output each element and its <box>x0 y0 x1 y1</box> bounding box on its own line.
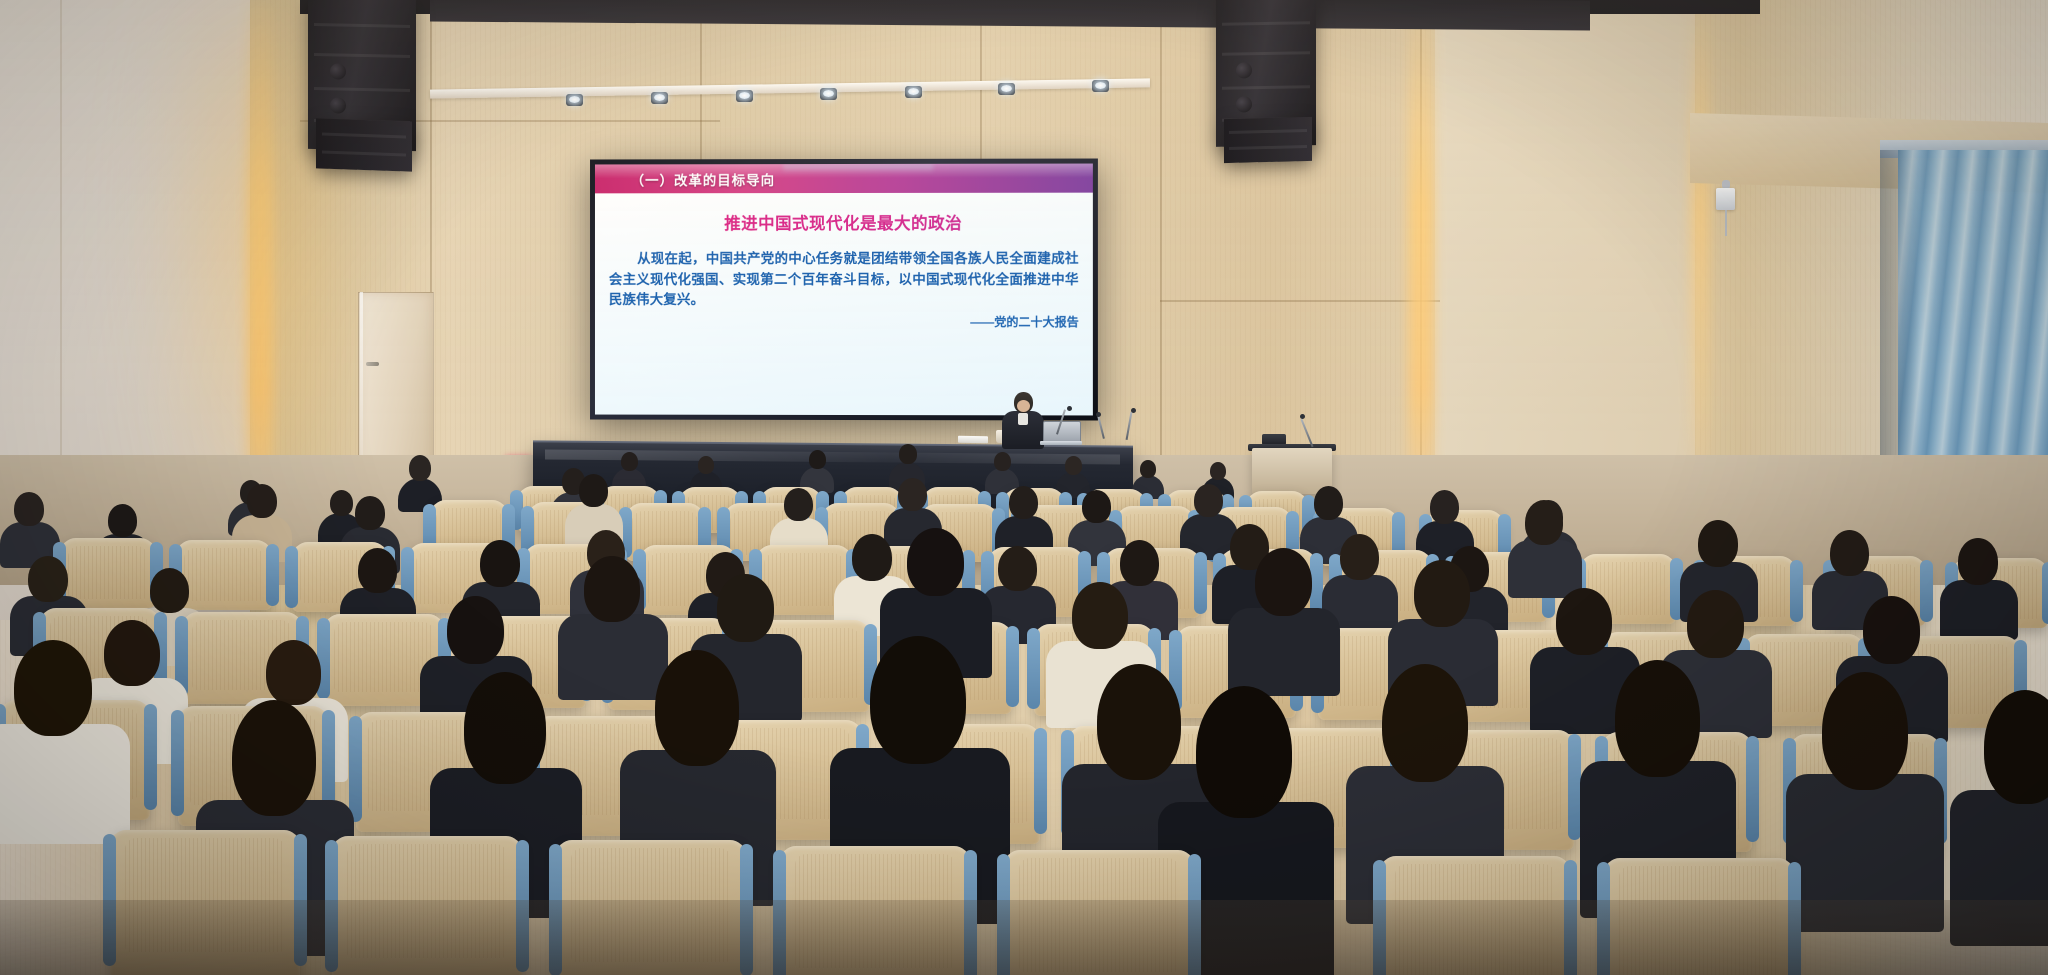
laptop-screen <box>1043 421 1081 443</box>
spotlight <box>1092 80 1109 92</box>
laptop-keyboard <box>1040 441 1082 445</box>
audience-person-foreground <box>1786 672 1944 926</box>
wall-light-strip-far-right <box>1690 0 1710 470</box>
microphone-head <box>1300 414 1305 419</box>
audience-person <box>1940 538 2018 636</box>
spotlight <box>566 94 583 106</box>
slide-paragraph-line: 。 <box>691 292 705 307</box>
slide-paragraph-line: 从现在起，中国共产党的中心任务就是团结带领全 <box>637 251 940 266</box>
slide-header-text: （一）改革的目标导向 <box>631 169 775 189</box>
panel-seam <box>980 18 982 163</box>
wall-light-strip-right <box>1408 0 1434 520</box>
slide-headline: 推进中国式现代化是最大的政治 <box>609 210 1079 234</box>
wall-device-cord <box>1725 210 1727 236</box>
spotlight <box>998 83 1015 95</box>
slide-paragraph: 从现在起，中国共产党的中心任务就是团结带领全国各族人民全面建成社会主义现代化强国… <box>609 249 1079 311</box>
spotlight <box>651 92 668 104</box>
slide-body: 推进中国式现代化是最大的政治 从现在起，中国共产党的中心任务就是团结带领全国各族… <box>595 193 1093 416</box>
presenter-shirt <box>1018 413 1028 425</box>
door-edge-light <box>360 292 363 477</box>
audience-person-foreground <box>0 640 130 840</box>
presenter <box>1002 392 1044 448</box>
door-handle[interactable] <box>366 362 379 366</box>
audience-person <box>800 450 834 490</box>
audience-person <box>398 455 442 509</box>
auditorium-photo: （一）改革的目标导向 推进中国式现代化是最大的政治 从现在起，中国共产党的中心任… <box>0 0 2048 975</box>
panel-seam <box>1160 300 1440 302</box>
microphone-head <box>1067 406 1072 411</box>
audience-person <box>1508 500 1582 594</box>
floor-foreground <box>0 900 2048 975</box>
microphone-head <box>1096 412 1101 417</box>
panel-seam <box>1160 22 1162 462</box>
spotlight <box>820 88 837 100</box>
slide-attribution: ——党的二十大报告 <box>609 312 1079 329</box>
audience-person <box>1228 548 1340 692</box>
presenter-face <box>1017 400 1030 412</box>
slide-surface: （一）改革的目标导向 推进中国式现代化是最大的政治 从现在起，中国共产党的中心任… <box>595 164 1093 416</box>
slide-header-banner: （一）改革的目标导向 <box>595 164 1093 194</box>
spotlight <box>905 86 922 98</box>
panel-seam <box>700 20 702 170</box>
documents-on-table <box>958 436 988 444</box>
panel-seam <box>60 0 62 500</box>
right-wall-slab <box>1435 0 1695 520</box>
line-array-speaker-left-lower <box>316 118 412 171</box>
audience-person <box>0 492 60 564</box>
wall-mounted-device <box>1716 188 1735 210</box>
microphone-head <box>1131 408 1136 413</box>
spotlight <box>736 90 753 102</box>
line-array-speaker-right-lower <box>1224 117 1312 163</box>
side-door[interactable] <box>358 292 434 479</box>
audience-person <box>985 452 1019 490</box>
audience-person <box>1056 456 1090 494</box>
led-presentation-screen[interactable]: （一）改革的目标导向 推进中国式现代化是最大的政治 从现在起，中国共产党的中心任… <box>590 159 1098 421</box>
